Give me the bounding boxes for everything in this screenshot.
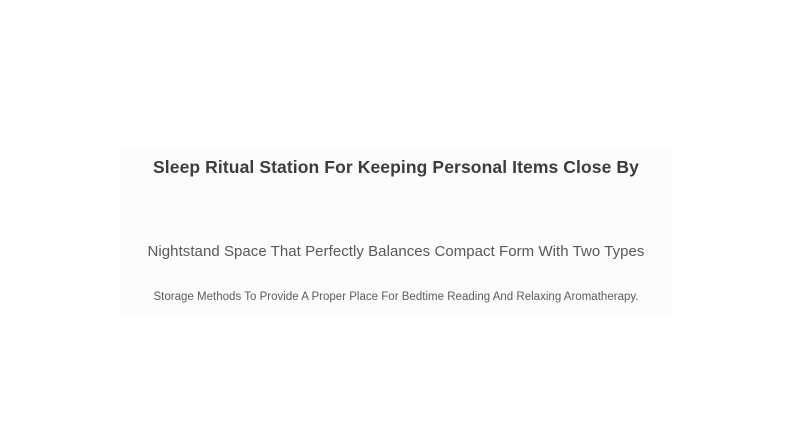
page-root: { "page": { "background_color": "#ffffff… — [0, 0, 790, 421]
page-subtitle: Nightstand Space That Perfectly Balances… — [120, 242, 672, 261]
page-description: Storage Methods To Provide A Proper Plac… — [120, 290, 672, 305]
content-card: Sleep Ritual Station For Keeping Persona… — [120, 148, 672, 315]
page-title: Sleep Ritual Station For Keeping Persona… — [120, 157, 672, 178]
